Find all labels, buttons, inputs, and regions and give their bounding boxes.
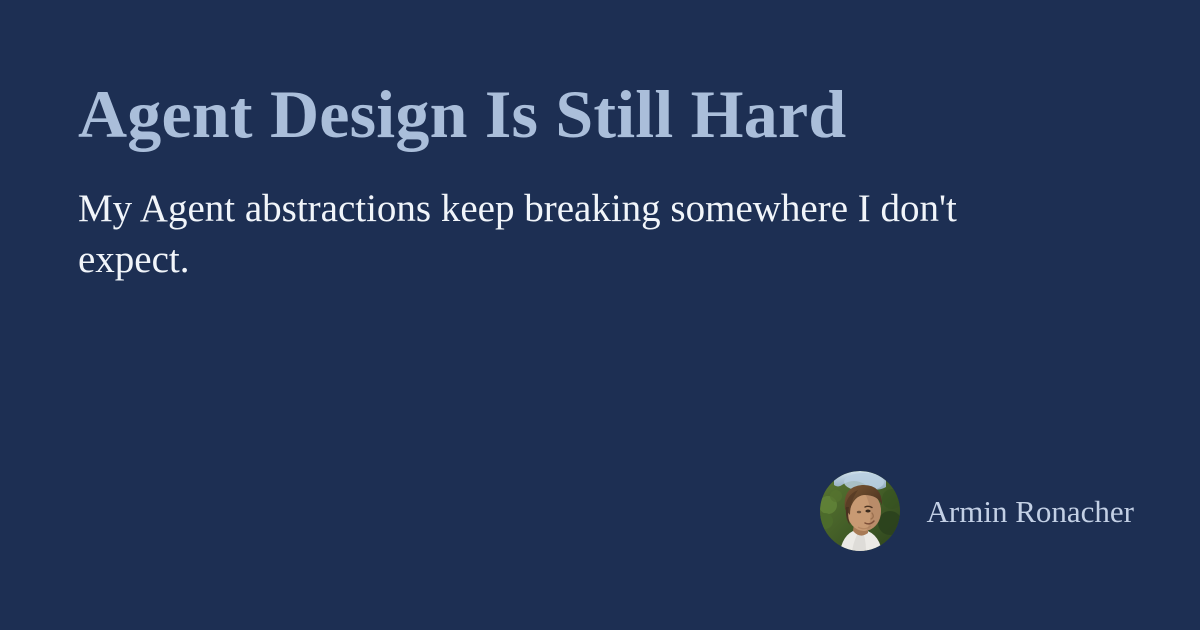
og-card: Agent Design Is Still Hard My Agent abst… — [0, 0, 1200, 630]
avatar — [820, 471, 900, 551]
author-name: Armin Ronacher — [927, 496, 1134, 527]
post-subtitle: My Agent abstractions keep breaking some… — [78, 183, 1038, 285]
author-block: Armin Ronacher — [820, 471, 1134, 551]
page-title: Agent Design Is Still Hard — [78, 80, 1118, 148]
